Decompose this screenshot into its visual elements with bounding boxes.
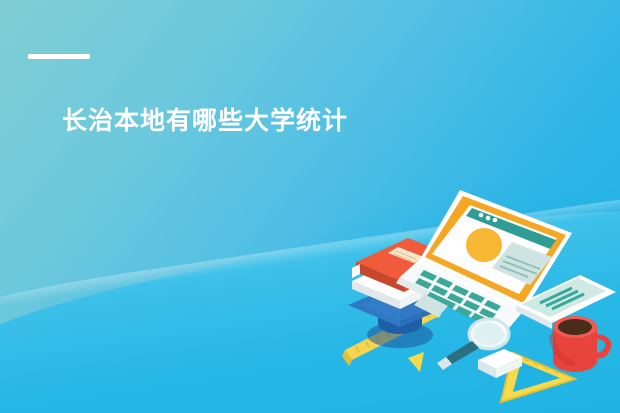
coffee-mug-icon: [549, 316, 611, 372]
triangle-ruler-corner: [408, 352, 424, 372]
study-desk-illustration: [0, 0, 620, 413]
banner: 长治本地有哪些大学统计: [0, 0, 620, 413]
